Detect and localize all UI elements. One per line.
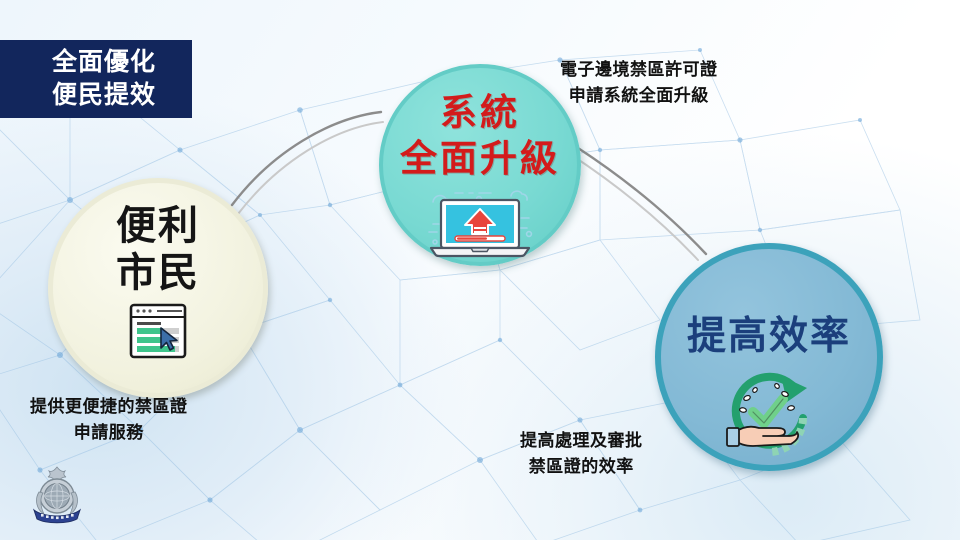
title-line-1: 全面優化: [52, 46, 156, 79]
title-line-2: 便民提效: [52, 79, 156, 112]
presentation-slide: 全面優化 便民提效 便利 市民: [0, 0, 960, 540]
node-efficiency[interactable]: 提高效率: [655, 243, 883, 471]
arc-center-to-right: [578, 148, 706, 254]
caption-top-right: 電子邊境禁區許可證 申請系統全面升級: [560, 57, 718, 110]
slide-title-banner: 全面優化 便民提效: [0, 40, 192, 118]
caption-bottom-center-line-1: 提高處理及審批: [520, 428, 643, 454]
node-convenience-label: 便利 市民: [116, 203, 200, 297]
caption-bottom-left: 提供更便捷的禁區證 申請服務: [30, 394, 188, 447]
node-system-upgrade-label-line-1: 系統: [400, 90, 560, 136]
node-efficiency-label: 提高效率: [687, 315, 851, 360]
caption-top-right-line-1: 電子邊境禁區許可證: [560, 57, 718, 83]
caption-bottom-center-line-2: 禁區證的效率: [520, 454, 643, 480]
arc-left-to-center: [232, 112, 381, 205]
node-convenience-label-line-1: 便利: [116, 203, 200, 250]
hand-checkmark-refresh-icon: [717, 366, 821, 458]
node-system-upgrade-label-line-2: 全面升級: [400, 136, 560, 182]
node-convenience[interactable]: 便利 市民: [48, 178, 268, 398]
caption-bottom-left-line-2: 申請服務: [30, 420, 188, 446]
node-system-upgrade-label: 系統 全面升級: [400, 90, 560, 182]
laptop-upload-icon: [419, 184, 541, 260]
caption-bottom-center: 提高處理及審批 禁區證的效率: [520, 428, 643, 481]
caption-top-right-line-2: 申請系統全面升級: [560, 83, 718, 109]
node-convenience-label-line-2: 市民: [116, 250, 200, 297]
caption-bottom-left-line-1: 提供更便捷的禁區證: [30, 394, 188, 420]
node-system-upgrade[interactable]: 系統 全面升級: [379, 64, 581, 266]
online-form-cursor-icon: [127, 301, 189, 361]
hong-kong-police-force-crest-icon: [24, 462, 90, 528]
